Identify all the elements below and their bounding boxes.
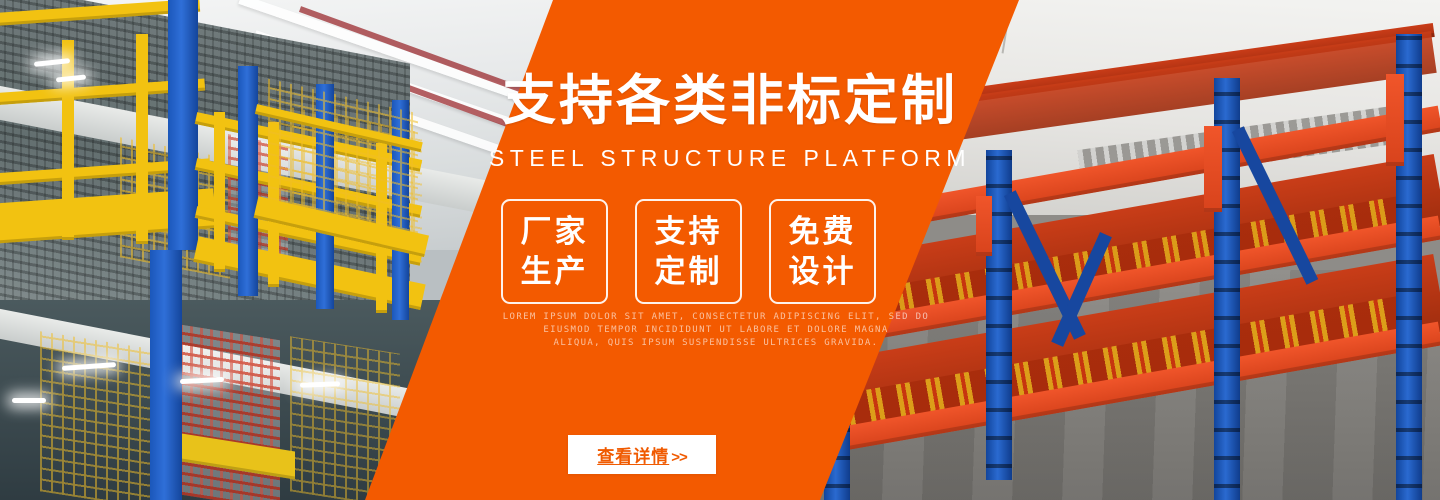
badge-line-2: 定制: [655, 252, 723, 292]
cta-text: 查看详情>>: [597, 442, 687, 467]
lorem-line-1: LOREM IPSUM DOLOR SIT AMET, CONSECTETUR …: [0, 311, 1436, 324]
badge-line-1: 厂家: [521, 212, 589, 252]
badge-customization[interactable]: 支持 定制: [635, 199, 742, 304]
lorem-line-3: ALIQUA, QUIS IPSUM SUSPENDISSE ULTRICES …: [0, 337, 1436, 350]
lorem-description: LOREM IPSUM DOLOR SIT AMET, CONSECTETUR …: [0, 311, 1436, 351]
badge-line-2: 设计: [789, 252, 857, 292]
cta-label: 查看详情: [597, 442, 669, 467]
subheadline: STEEL STRUCTURE PLATFORM: [10, 145, 1440, 172]
badge-line-2: 生产: [521, 252, 589, 292]
banner-content: 支持各类非标定制 STEEL STRUCTURE PLATFORM 厂家 生产 …: [0, 0, 1440, 500]
badge-line-1: 支持: [655, 212, 723, 252]
promo-banner: 支持各类非标定制 STEEL STRUCTURE PLATFORM 厂家 生产 …: [0, 0, 1440, 500]
badge-free-design[interactable]: 免费 设计: [769, 199, 876, 304]
feature-badges: 厂家 生产 支持 定制 免费 设计: [501, 199, 876, 304]
badge-manufacturer[interactable]: 厂家 生产: [501, 199, 608, 304]
badge-line-1: 免费: [789, 212, 857, 252]
cta-arrows-icon: >>: [671, 449, 687, 466]
headline: 支持各类非标定制: [10, 74, 1440, 128]
lorem-line-2: EIUSMOD TEMPOR INCIDIDUNT UT LABORE ET D…: [0, 324, 1436, 337]
view-details-button[interactable]: 查看详情>>: [568, 435, 716, 474]
